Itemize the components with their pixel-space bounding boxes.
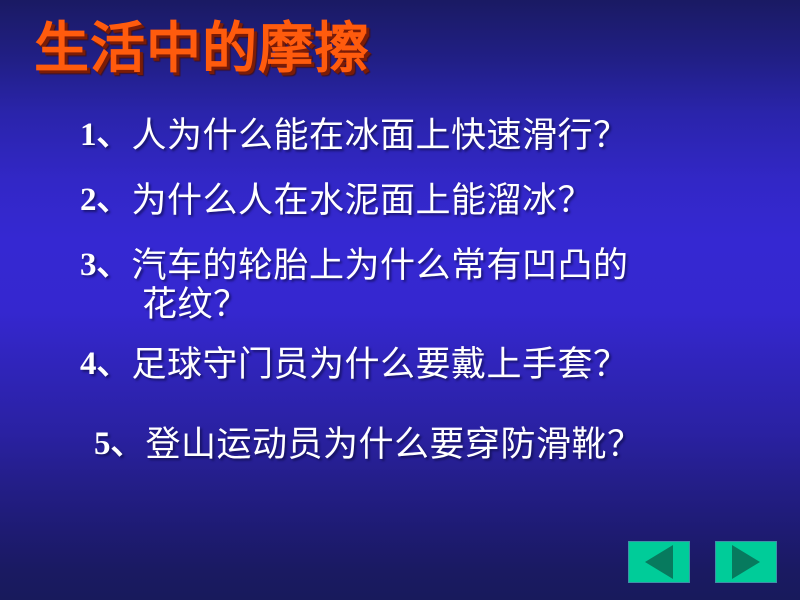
list-item-number: 1、 bbox=[80, 118, 132, 154]
question-list: 1、 人为什么能在冰面上快速滑行？ 2、 为什么人在水泥面上能溜冰？ 3、 汽车… bbox=[72, 118, 772, 465]
list-item-text: 登山运动员为什么要穿防滑靴？ bbox=[146, 427, 643, 465]
list-item: 5、 登山运动员为什么要穿防滑靴？ bbox=[72, 427, 772, 465]
list-item-continuation: 花纹？ bbox=[72, 287, 772, 325]
list-item: 2、 为什么人在水泥面上能溜冰？ bbox=[72, 183, 772, 221]
list-item-number: 5、 bbox=[94, 427, 146, 463]
list-item: 1、 人为什么能在冰面上快速滑行？ bbox=[72, 118, 772, 156]
list-item-number: 2、 bbox=[80, 183, 132, 219]
list-item-number: 3、 bbox=[80, 248, 132, 284]
previous-slide-button[interactable] bbox=[628, 541, 690, 583]
list-item: 3、 汽车的轮胎上为什么常有凹凸的 bbox=[72, 248, 772, 286]
list-item-text: 足球守门员为什么要戴上手套？ bbox=[132, 347, 629, 385]
list-item-text: 汽车的轮胎上为什么常有凹凸的 bbox=[132, 248, 629, 286]
list-item-text: 为什么人在水泥面上能溜冰？ bbox=[132, 183, 594, 221]
list-item-text: 人为什么能在冰面上快速滑行？ bbox=[132, 118, 629, 156]
navigation-buttons bbox=[628, 541, 777, 583]
list-item: 4、 足球守门员为什么要戴上手套？ bbox=[72, 347, 772, 385]
next-slide-button[interactable] bbox=[715, 541, 777, 583]
triangle-left-icon bbox=[645, 545, 673, 579]
slide-canvas: 生活中的摩擦 1、 人为什么能在冰面上快速滑行？ 2、 为什么人在水泥面上能溜冰… bbox=[0, 0, 800, 600]
page-title: 生活中的摩擦 bbox=[34, 20, 370, 78]
list-item-number: 4、 bbox=[80, 347, 132, 383]
triangle-right-icon bbox=[732, 545, 760, 579]
